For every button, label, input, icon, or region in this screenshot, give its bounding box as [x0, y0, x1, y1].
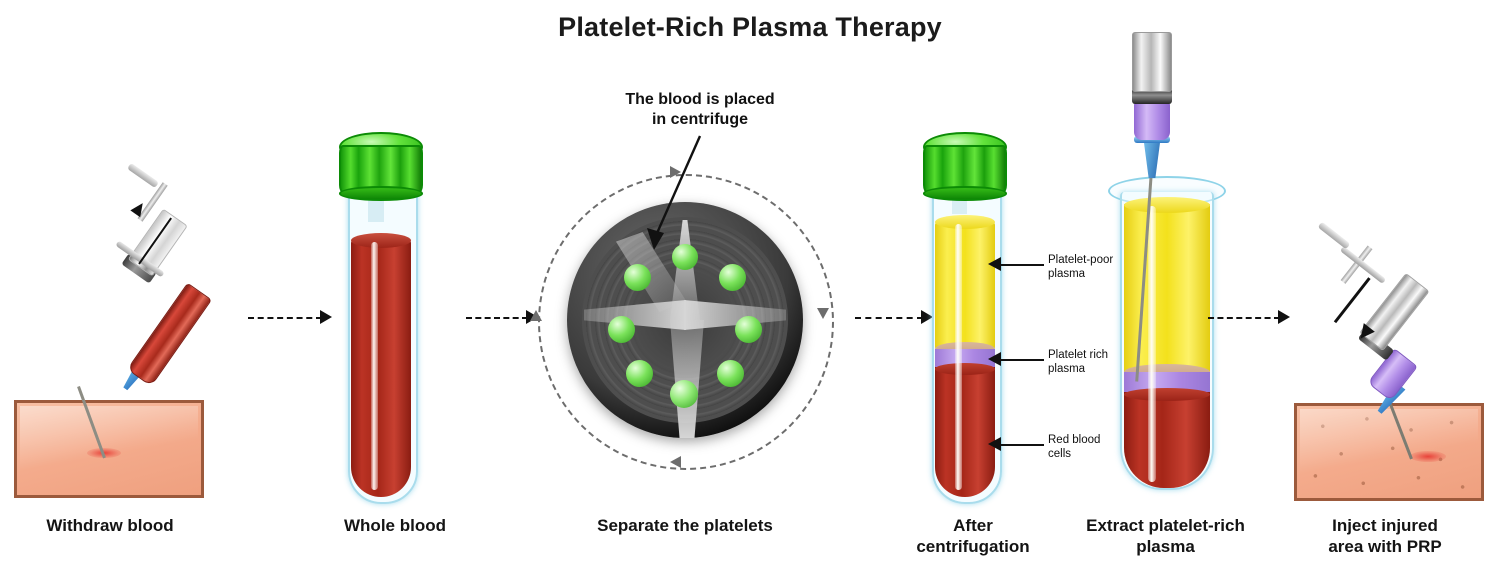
syringe-barrel-inject — [1359, 273, 1429, 351]
blood-meniscus-whole — [351, 233, 411, 248]
tube-cap-after[interactable] — [923, 132, 1007, 198]
rotation-arrow-bottom — [670, 456, 681, 468]
step-label-inject-prp: Inject injured area with PRP — [1290, 515, 1480, 558]
annotation-centrifuge: The blood is placed in centrifuge — [595, 90, 805, 131]
layer-platelet-poor-plasma — [935, 222, 995, 350]
push-direction-arrow — [1334, 277, 1371, 323]
step-extract-prp — [1090, 20, 1240, 510]
beaker-highlight — [1148, 206, 1156, 482]
skin-highlight-inject — [1300, 409, 1478, 495]
step-withdraw-blood — [0, 190, 230, 510]
tube-cap-whole[interactable] — [339, 132, 423, 198]
cap-lip — [339, 186, 423, 201]
extraction-needle-hub — [1140, 138, 1164, 178]
step-label-extract-prp: Extract platelet-rich plasma — [1058, 515, 1273, 558]
beaker-layer-rbc — [1124, 392, 1210, 488]
platelet-sphere — [624, 264, 651, 291]
platelet-sphere — [670, 380, 698, 408]
step-label-whole-blood: Whole blood — [295, 515, 495, 536]
annotation-leader-centrifuge — [640, 132, 710, 257]
platelet-sphere — [719, 264, 746, 291]
step-label-after-centrifugation: After centrifugation — [893, 515, 1053, 558]
syringe-upper-withdraw — [128, 209, 188, 277]
platelet-sphere — [608, 316, 635, 343]
injection-mark-inject — [1410, 451, 1446, 462]
step-label-withdraw: Withdraw blood — [10, 515, 210, 536]
step-inject-prp — [1280, 230, 1500, 510]
tube-highlight-after — [955, 224, 962, 490]
layer-red-blood-cells — [935, 367, 995, 497]
rotation-arrow-left — [530, 310, 542, 321]
cap-lip — [923, 186, 1007, 201]
syringe-barrel-extract — [1132, 32, 1172, 92]
tube-highlight-whole — [371, 242, 378, 490]
syringe-prp-fluid — [1134, 102, 1170, 140]
syringe-barrel-withdraw — [127, 283, 212, 387]
syringe-prp-barrel-inject — [1367, 348, 1418, 401]
step-after-centrifugation — [920, 120, 1030, 510]
blood-fill-whole — [351, 240, 411, 497]
rbc-meniscus — [935, 363, 995, 375]
thumb-rest-withdraw — [127, 163, 159, 188]
step-label-separate: Separate the platelets — [575, 515, 795, 536]
platelet-sphere — [735, 316, 762, 343]
plasma-meniscus — [935, 215, 995, 229]
step-whole-blood — [330, 120, 460, 510]
beaker-rbc-meniscus — [1124, 388, 1210, 401]
platelet-sphere — [717, 360, 744, 387]
page-title: Platelet-Rich Plasma Therapy — [0, 12, 1500, 43]
rotation-arrow-right — [817, 308, 829, 319]
beaker-plasma-meniscus — [1124, 197, 1210, 213]
platelet-sphere — [626, 360, 653, 387]
thumb-rest-inject — [1318, 222, 1351, 250]
tube-frost-patch-whole — [368, 200, 384, 222]
